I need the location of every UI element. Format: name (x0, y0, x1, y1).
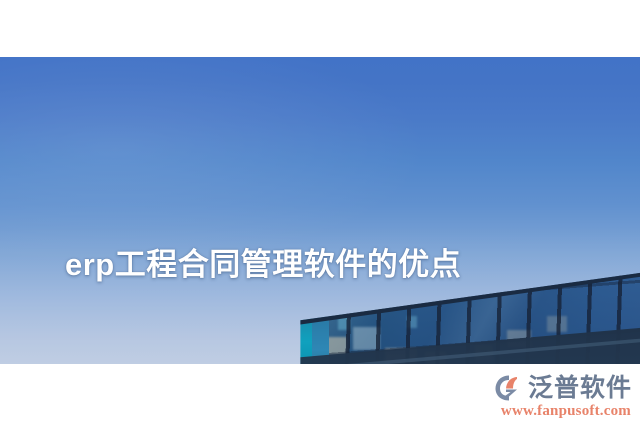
brand-name: 泛普软件 (528, 376, 632, 401)
banner-page: erp工程合同管理软件的优点 泛普软件 www.fanpusoft.com (0, 0, 640, 427)
fanpu-logo-mark-icon (494, 374, 524, 402)
brand-logo[interactable]: 泛普软件 www.fanpusoft.com (494, 374, 632, 419)
brand-url[interactable]: www.fanpusoft.com (501, 404, 631, 419)
logo-primary-row: 泛普软件 (494, 374, 632, 402)
hero-banner: erp工程合同管理软件的优点 (0, 57, 640, 364)
page-title: erp工程合同管理软件的优点 (65, 239, 461, 284)
